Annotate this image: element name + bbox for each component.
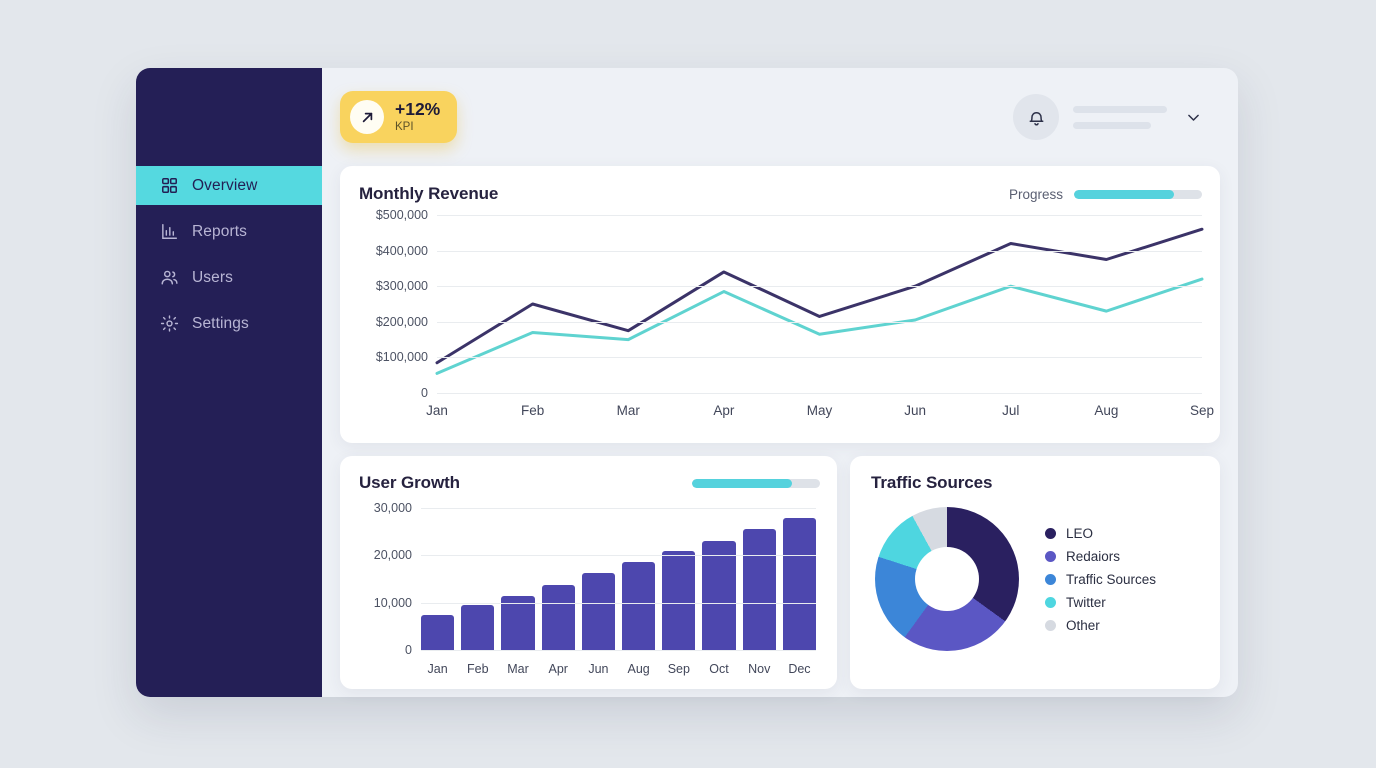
traffic-legend: LEORedaiorsTraffic SourcesTwitterOther	[1045, 526, 1156, 633]
revenue-line-chart: $500,000$400,000$300,000$200,000$100,000…	[359, 207, 1202, 429]
bar-plot-inner: 30,00020,00010,0000	[421, 508, 816, 650]
bar[interactable]	[501, 596, 534, 650]
sidebar-item-label: Users	[192, 269, 233, 287]
kpi-badge[interactable]: +12% KPI	[340, 91, 457, 143]
legend-item[interactable]: Redaiors	[1045, 549, 1156, 564]
bars-container	[421, 508, 816, 650]
legend-item[interactable]: Traffic Sources	[1045, 572, 1156, 587]
gridline	[437, 357, 1202, 358]
revenue-card-header: Monthly Revenue Progress	[359, 184, 1202, 204]
y-axis-tick-label: 0	[421, 386, 437, 400]
users-icon	[160, 268, 179, 287]
dashboard-window: Overview Reports	[136, 68, 1238, 697]
x-axis-tick-label: Sep	[662, 662, 695, 676]
account-menu-button[interactable]	[1181, 105, 1206, 130]
traffic-donut-chart[interactable]	[875, 507, 1019, 651]
line-series-svg	[437, 215, 1202, 393]
bar-column	[421, 508, 454, 650]
traffic-sources-card: Traffic Sources LEORedaiorsTraffic Sourc…	[850, 456, 1220, 689]
traffic-title: Traffic Sources	[871, 473, 992, 493]
notification-bell-button[interactable]	[1013, 94, 1059, 140]
gridline	[437, 251, 1202, 252]
line-series-revenue	[437, 229, 1202, 362]
bar[interactable]	[743, 529, 776, 650]
legend-item[interactable]: Other	[1045, 618, 1156, 633]
legend-color-swatch	[1045, 574, 1056, 585]
sidebar-item-label: Overview	[192, 177, 257, 195]
bar-column	[783, 508, 816, 650]
legend-color-swatch	[1045, 620, 1056, 631]
monthly-revenue-card: Monthly Revenue Progress $500,000$400,00…	[340, 166, 1220, 443]
bar-column	[622, 508, 655, 650]
page-title: Monthly Revenue	[359, 184, 498, 204]
y-axis-tick-label: 10,000	[374, 596, 421, 610]
line-series-target	[437, 279, 1202, 373]
gridline	[437, 286, 1202, 287]
bar-column	[542, 508, 575, 650]
gridline	[421, 555, 816, 556]
bar-column	[501, 508, 534, 650]
traffic-card-header: Traffic Sources	[871, 473, 1201, 493]
user-growth-card: User Growth 30,00020,00010,0000 JanFebMa…	[340, 456, 837, 689]
x-axis-tick-label: Oct	[702, 662, 735, 676]
bar[interactable]	[662, 551, 695, 650]
chevron-down-icon	[1185, 109, 1202, 126]
gridline	[437, 322, 1202, 323]
x-axis-tick-label: Nov	[743, 662, 776, 676]
bar-column	[461, 508, 494, 650]
donut-center-hole	[915, 547, 979, 611]
x-axis-tick-label: May	[807, 403, 833, 418]
arrow-up-right-icon	[350, 100, 384, 134]
sidebar-item-label: Settings	[192, 315, 249, 333]
revenue-x-axis: JanFebMarAprMayJunJulAugSep	[437, 403, 1202, 423]
legend-label: LEO	[1066, 526, 1093, 541]
y-axis-tick-label: $400,000	[376, 244, 437, 258]
bar-column	[582, 508, 615, 650]
x-axis-tick-label: Jan	[426, 403, 448, 418]
x-axis-tick-label: Mar	[617, 403, 640, 418]
x-axis-tick-label: Dec	[783, 662, 816, 676]
bar-column	[662, 508, 695, 650]
y-axis-tick-label: 30,000	[374, 501, 421, 515]
legend-label: Other	[1066, 618, 1100, 633]
revenue-progress-bar[interactable]	[1074, 190, 1202, 199]
y-axis-tick-label: $200,000	[376, 315, 437, 329]
legend-label: Twitter	[1066, 595, 1106, 610]
legend-label: Traffic Sources	[1066, 572, 1156, 587]
growth-title: User Growth	[359, 473, 460, 493]
bar-chart-icon	[160, 222, 179, 241]
x-axis-tick-label: Jun	[904, 403, 926, 418]
x-axis-tick-label: Mar	[501, 662, 534, 676]
bar[interactable]	[622, 562, 655, 650]
kpi-text-group: +12% KPI	[395, 100, 440, 133]
x-axis-tick-label: Feb	[461, 662, 494, 676]
legend-color-swatch	[1045, 528, 1056, 539]
main-content: +12% KPI	[322, 68, 1238, 697]
sidebar-item-settings[interactable]: Settings	[136, 304, 322, 343]
sidebar-item-users[interactable]: Users	[136, 258, 322, 297]
sidebar: Overview Reports	[136, 68, 322, 697]
growth-progress-bar[interactable]	[692, 479, 820, 488]
y-axis-tick-label: $500,000	[376, 208, 437, 222]
sidebar-item-reports[interactable]: Reports	[136, 212, 322, 251]
gridline	[421, 508, 816, 509]
topbar-right-group	[1013, 94, 1220, 140]
user-growth-bar-chart: 30,00020,00010,0000 JanFebMarAprJunAugSe…	[359, 500, 820, 680]
x-axis-tick-label: Feb	[521, 403, 544, 418]
bar-column	[702, 508, 735, 650]
y-axis-tick-label: 20,000	[374, 548, 421, 562]
bar-column	[743, 508, 776, 650]
x-axis-tick-label: Apr	[542, 662, 575, 676]
topbar: +12% KPI	[340, 68, 1220, 166]
bar[interactable]	[783, 518, 816, 650]
traffic-chart-body: LEORedaiorsTraffic SourcesTwitterOther	[871, 507, 1201, 651]
kpi-value: +12%	[395, 100, 440, 120]
bar[interactable]	[702, 541, 735, 650]
revenue-progress-group: Progress	[1009, 187, 1202, 202]
y-axis-tick-label: $300,000	[376, 279, 437, 293]
growth-x-axis: JanFebMarAprJunAugSepOctNovDec	[421, 662, 816, 676]
legend-color-swatch	[1045, 551, 1056, 562]
gear-icon	[160, 314, 179, 333]
gridline	[421, 650, 816, 651]
x-axis-tick-label: Sep	[1190, 403, 1214, 418]
bar[interactable]	[461, 605, 494, 650]
gridline	[437, 215, 1202, 216]
revenue-progress-fill	[1074, 190, 1174, 199]
legend-item[interactable]: LEO	[1045, 526, 1156, 541]
bar[interactable]	[421, 615, 454, 651]
y-axis-tick-label: $100,000	[376, 350, 437, 364]
growth-card-header: User Growth	[359, 473, 820, 493]
x-axis-tick-label: Aug	[622, 662, 655, 676]
legend-color-swatch	[1045, 597, 1056, 608]
sidebar-item-label: Reports	[192, 223, 247, 241]
sidebar-item-overview[interactable]: Overview	[136, 166, 322, 205]
bar[interactable]	[542, 585, 575, 650]
account-placeholder[interactable]	[1073, 106, 1167, 129]
x-axis-tick-label: Jun	[582, 662, 615, 676]
legend-item[interactable]: Twitter	[1045, 595, 1156, 610]
progress-label: Progress	[1009, 187, 1063, 202]
y-axis-tick-label: 0	[405, 643, 421, 657]
bell-icon	[1026, 107, 1047, 128]
skeleton-line	[1073, 106, 1167, 113]
x-axis-tick-label: Jul	[1002, 403, 1019, 418]
kpi-label: KPI	[395, 121, 440, 134]
legend-label: Redaiors	[1066, 549, 1120, 564]
bottom-card-row: User Growth 30,00020,00010,0000 JanFebMa…	[340, 456, 1220, 689]
x-axis-tick-label: Aug	[1094, 403, 1118, 418]
line-plot-inner: $500,000$400,000$300,000$200,000$100,000…	[437, 215, 1202, 393]
x-axis-tick-label: Jan	[421, 662, 454, 676]
skeleton-line	[1073, 122, 1151, 129]
gridline	[437, 393, 1202, 394]
gridline	[421, 603, 816, 604]
grid-icon	[160, 176, 179, 195]
bar[interactable]	[582, 573, 615, 650]
x-axis-tick-label: Apr	[713, 403, 734, 418]
growth-progress-fill	[692, 479, 792, 488]
